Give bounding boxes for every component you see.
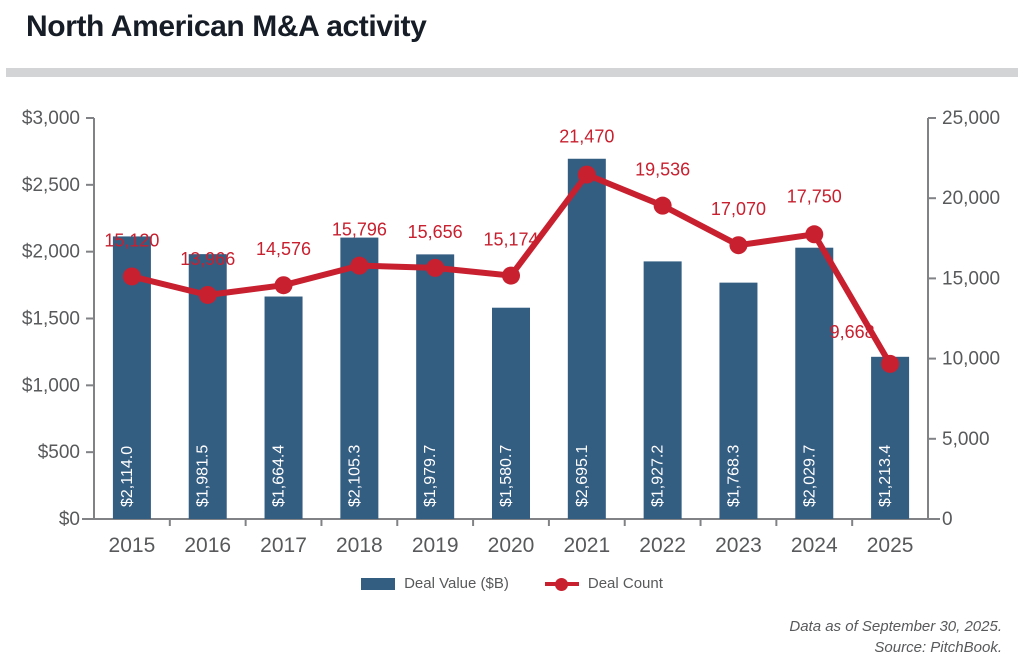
deal-count-marker-2017[interactable] (275, 276, 293, 294)
chart-plot-area: $0$500$1,000$1,500$2,000$2,500$3,00005,0… (0, 0, 1024, 670)
left-axis-tick-label: $1,500 (22, 309, 80, 330)
deal-count-marker-2018[interactable] (350, 257, 368, 275)
right-axis-tick-label: 5,000 (942, 429, 990, 450)
left-axis-tick-label: $1,000 (22, 375, 80, 396)
bar-value-label-2017: $1,664.4 (271, 445, 288, 507)
deal-count-label-2020: 15,174 (483, 230, 538, 250)
right-axis-tick-label: 25,000 (942, 108, 1000, 129)
deal-count-marker-2024[interactable] (805, 225, 823, 243)
deal-count-label-2022: 19,536 (635, 160, 690, 180)
deal-count-marker-2025[interactable] (881, 355, 899, 373)
bar-value-label-2020: $1,580.7 (498, 445, 515, 507)
bar-value-label-2015: $2,114.0 (119, 446, 136, 507)
right-axis-tick-label: 0 (942, 509, 953, 530)
x-axis-label-2016: 2016 (184, 534, 231, 557)
left-axis-tick-label: $2,500 (22, 175, 80, 196)
deal-count-marker-2016[interactable] (199, 286, 217, 304)
left-axis-tick-label: $500 (38, 442, 80, 463)
deal-count-label-2017: 14,576 (256, 239, 311, 259)
bar-value-label-2018: $2,105.3 (346, 445, 363, 507)
x-axis-label-2017: 2017 (260, 534, 307, 557)
deal-count-marker-2015[interactable] (123, 267, 141, 285)
deal-count-label-2021: 21,470 (559, 127, 614, 147)
bar-value-label-2016: $1,981.5 (195, 445, 212, 507)
x-axis-label-2025: 2025 (867, 534, 914, 557)
x-axis-label-2023: 2023 (715, 534, 762, 557)
x-axis-label-2021: 2021 (563, 534, 610, 557)
x-axis-label-2020: 2020 (488, 534, 535, 557)
legend-item-deal-value[interactable]: Deal Value ($B) (361, 575, 509, 592)
x-axis-label-2015: 2015 (109, 534, 156, 557)
deal-count-marker-2022[interactable] (654, 197, 672, 215)
deal-count-label-2024: 17,750 (787, 186, 842, 206)
bar-value-label-2021: $2,695.1 (574, 445, 591, 507)
footer-source: Source: PitchBook. (789, 637, 1002, 658)
deal-count-label-2019: 15,656 (408, 222, 463, 242)
bar-value-label-2022: $1,927.2 (650, 445, 667, 507)
right-axis-tick-label: 20,000 (942, 188, 1000, 209)
deal-count-label-2016: 13,966 (180, 249, 235, 269)
deal-count-label-2025: 9,668 (830, 322, 875, 342)
bar-swatch-icon (361, 578, 395, 590)
deal-count-label-2018: 15,796 (332, 220, 387, 240)
bar-value-label-2024: $2,029.7 (801, 445, 818, 507)
right-axis-tick-label: 10,000 (942, 349, 1000, 370)
x-axis-label-2022: 2022 (639, 534, 686, 557)
left-axis-tick-label: $2,000 (22, 242, 80, 263)
x-axis-label-2024: 2024 (791, 534, 838, 557)
bar-value-label-2019: $1,979.7 (422, 445, 439, 507)
deal-count-label-2015: 15,120 (104, 230, 159, 250)
left-axis-tick-label: $3,000 (22, 108, 80, 129)
right-axis-tick-label: 15,000 (942, 268, 1000, 289)
x-axis-label-2018: 2018 (336, 534, 383, 557)
deal-count-marker-2020[interactable] (502, 267, 520, 285)
left-axis-tick-label: $0 (59, 509, 80, 530)
footer-data-as-of: Data as of September 30, 2025. (789, 616, 1002, 637)
line-dot-swatch-icon (545, 577, 579, 591)
deal-count-marker-2023[interactable] (729, 236, 747, 254)
x-axis-label-2019: 2019 (412, 534, 459, 557)
deal-count-marker-2019[interactable] (426, 259, 444, 277)
bar-value-label-2025: $1,213.4 (877, 445, 894, 507)
bar-value-label-2023: $1,768.3 (725, 445, 742, 507)
chart-legend: Deal Value ($B) Deal Count (0, 575, 1024, 592)
chart-canvas: $0$500$1,000$1,500$2,000$2,500$3,00005,0… (0, 0, 1024, 670)
deal-count-marker-2021[interactable] (578, 166, 596, 184)
deal-count-label-2023: 17,070 (711, 199, 766, 219)
legend-item-deal-count[interactable]: Deal Count (545, 575, 663, 592)
legend-label-deal-value: Deal Value ($B) (404, 575, 509, 592)
legend-label-deal-count: Deal Count (588, 575, 663, 592)
footer-note: Data as of September 30, 2025. Source: P… (789, 616, 1002, 659)
